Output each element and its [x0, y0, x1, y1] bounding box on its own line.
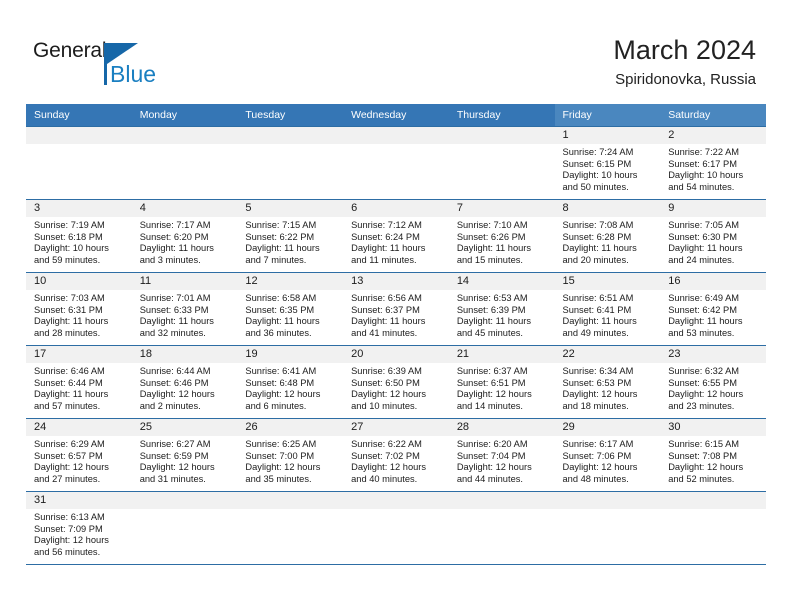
day-detail-line: Sunrise: 6:15 AM	[668, 439, 761, 451]
day-detail-line: Sunset: 7:08 PM	[668, 451, 761, 463]
day-cell[interactable]: 15Sunrise: 6:51 AMSunset: 6:41 PMDayligh…	[555, 273, 661, 345]
day-detail-line: Sunrise: 7:19 AM	[34, 220, 127, 232]
day-detail-line: Sunrise: 7:10 AM	[457, 220, 550, 232]
day-detail-line: and 35 minutes.	[245, 474, 338, 486]
day-details: Sunrise: 6:25 AMSunset: 7:00 PMDaylight:…	[237, 436, 343, 485]
day-details: Sunrise: 6:32 AMSunset: 6:55 PMDaylight:…	[660, 363, 766, 412]
day-cell[interactable]: 13Sunrise: 6:56 AMSunset: 6:37 PMDayligh…	[343, 273, 449, 345]
day-cell[interactable]: 26Sunrise: 6:25 AMSunset: 7:00 PMDayligh…	[237, 419, 343, 491]
day-number: 10	[26, 273, 132, 290]
title-block: March 2024 Spiridonovka, Russia	[613, 34, 756, 90]
day-cell[interactable]: 18Sunrise: 6:44 AMSunset: 6:46 PMDayligh…	[132, 346, 238, 418]
day-cell[interactable]: 17Sunrise: 6:46 AMSunset: 6:44 PMDayligh…	[26, 346, 132, 418]
day-detail-line: Daylight: 10 hours	[668, 170, 761, 182]
day-detail-line: Sunrise: 6:44 AM	[140, 366, 233, 378]
day-detail-line: Sunset: 6:46 PM	[140, 378, 233, 390]
day-detail-line: Sunset: 6:24 PM	[351, 232, 444, 244]
day-cell[interactable]: 2Sunrise: 7:22 AMSunset: 6:17 PMDaylight…	[660, 127, 766, 199]
day-detail-line: Sunrise: 6:51 AM	[563, 293, 656, 305]
day-detail-line: and 52 minutes.	[668, 474, 761, 486]
weekday-header-saturday: Saturday	[660, 104, 766, 127]
day-detail-line: Sunset: 6:20 PM	[140, 232, 233, 244]
day-detail-line: Sunset: 6:55 PM	[668, 378, 761, 390]
day-number: 31	[26, 492, 132, 509]
general-blue-logo[interactable]: General Blue	[33, 39, 173, 91]
day-detail-line: Daylight: 11 hours	[34, 389, 127, 401]
calendar-grid: SundayMondayTuesdayWednesdayThursdayFrid…	[26, 104, 766, 565]
day-number: 11	[132, 273, 238, 290]
day-detail-line: and 2 minutes.	[140, 401, 233, 413]
day-number	[343, 492, 449, 509]
day-detail-line: and 27 minutes.	[34, 474, 127, 486]
day-detail-line: Daylight: 12 hours	[245, 462, 338, 474]
day-number: 16	[660, 273, 766, 290]
day-details: Sunrise: 7:22 AMSunset: 6:17 PMDaylight:…	[660, 144, 766, 193]
day-cell-empty	[449, 127, 555, 199]
day-details: Sunrise: 6:20 AMSunset: 7:04 PMDaylight:…	[449, 436, 555, 485]
day-detail-line: Daylight: 11 hours	[34, 316, 127, 328]
day-number	[132, 492, 238, 509]
day-cell[interactable]: 6Sunrise: 7:12 AMSunset: 6:24 PMDaylight…	[343, 200, 449, 272]
day-detail-line: and 50 minutes.	[563, 182, 656, 194]
day-details: Sunrise: 6:46 AMSunset: 6:44 PMDaylight:…	[26, 363, 132, 412]
day-cell[interactable]: 30Sunrise: 6:15 AMSunset: 7:08 PMDayligh…	[660, 419, 766, 491]
weekday-header-row: SundayMondayTuesdayWednesdayThursdayFrid…	[26, 104, 766, 127]
page-header: General Blue March 2024 Spiridonovka, Ru…	[0, 0, 792, 100]
day-detail-line: Sunrise: 6:46 AM	[34, 366, 127, 378]
day-detail-line: Daylight: 12 hours	[351, 389, 444, 401]
day-detail-line: Sunrise: 6:29 AM	[34, 439, 127, 451]
day-detail-line: Sunset: 7:02 PM	[351, 451, 444, 463]
day-number: 5	[237, 200, 343, 217]
day-detail-line: Sunset: 6:44 PM	[34, 378, 127, 390]
day-detail-line: Daylight: 12 hours	[563, 389, 656, 401]
day-details: Sunrise: 6:41 AMSunset: 6:48 PMDaylight:…	[237, 363, 343, 412]
day-detail-line: Sunrise: 6:17 AM	[563, 439, 656, 451]
day-detail-line: Daylight: 12 hours	[457, 462, 550, 474]
day-cell[interactable]: 29Sunrise: 6:17 AMSunset: 7:06 PMDayligh…	[555, 419, 661, 491]
day-detail-line: and 36 minutes.	[245, 328, 338, 340]
day-detail-line: Daylight: 11 hours	[351, 243, 444, 255]
week-row: 3Sunrise: 7:19 AMSunset: 6:18 PMDaylight…	[26, 200, 766, 273]
day-details: Sunrise: 6:13 AMSunset: 7:09 PMDaylight:…	[26, 509, 132, 558]
day-detail-line: and 31 minutes.	[140, 474, 233, 486]
day-cell[interactable]: 24Sunrise: 6:29 AMSunset: 6:57 PMDayligh…	[26, 419, 132, 491]
day-cell-empty	[343, 492, 449, 564]
day-cell[interactable]: 9Sunrise: 7:05 AMSunset: 6:30 PMDaylight…	[660, 200, 766, 272]
day-detail-line: Daylight: 12 hours	[245, 389, 338, 401]
day-detail-line: Sunrise: 6:41 AM	[245, 366, 338, 378]
day-details: Sunrise: 6:34 AMSunset: 6:53 PMDaylight:…	[555, 363, 661, 412]
day-number: 1	[555, 127, 661, 144]
calendar-body: 1Sunrise: 7:24 AMSunset: 6:15 PMDaylight…	[26, 127, 766, 565]
day-cell[interactable]: 4Sunrise: 7:17 AMSunset: 6:20 PMDaylight…	[132, 200, 238, 272]
day-detail-line: Sunset: 6:37 PM	[351, 305, 444, 317]
day-detail-line: Daylight: 11 hours	[245, 243, 338, 255]
day-details: Sunrise: 6:49 AMSunset: 6:42 PMDaylight:…	[660, 290, 766, 339]
day-detail-line: Sunrise: 6:53 AM	[457, 293, 550, 305]
day-details: Sunrise: 6:37 AMSunset: 6:51 PMDaylight:…	[449, 363, 555, 412]
weekday-header-tuesday: Tuesday	[237, 104, 343, 127]
day-detail-line: and 24 minutes.	[668, 255, 761, 267]
day-detail-line: and 57 minutes.	[34, 401, 127, 413]
logo-text-blue: Blue	[110, 61, 156, 88]
week-row: 17Sunrise: 6:46 AMSunset: 6:44 PMDayligh…	[26, 346, 766, 419]
day-detail-line: Daylight: 12 hours	[563, 462, 656, 474]
day-detail-line: and 7 minutes.	[245, 255, 338, 267]
day-number: 12	[237, 273, 343, 290]
weekday-header-friday: Friday	[555, 104, 661, 127]
day-cell[interactable]: 20Sunrise: 6:39 AMSunset: 6:50 PMDayligh…	[343, 346, 449, 418]
day-details: Sunrise: 7:03 AMSunset: 6:31 PMDaylight:…	[26, 290, 132, 339]
day-detail-line: Daylight: 11 hours	[668, 243, 761, 255]
day-number: 20	[343, 346, 449, 363]
day-number: 6	[343, 200, 449, 217]
day-detail-line: Sunset: 6:31 PM	[34, 305, 127, 317]
day-details: Sunrise: 7:10 AMSunset: 6:26 PMDaylight:…	[449, 217, 555, 266]
day-cell-empty	[237, 127, 343, 199]
day-detail-line: Sunset: 6:53 PM	[563, 378, 656, 390]
day-cell-empty	[237, 492, 343, 564]
day-detail-line: Sunset: 6:30 PM	[668, 232, 761, 244]
week-row: 24Sunrise: 6:29 AMSunset: 6:57 PMDayligh…	[26, 419, 766, 492]
weekday-header-sunday: Sunday	[26, 104, 132, 127]
day-detail-line: Sunrise: 7:12 AM	[351, 220, 444, 232]
page-title: March 2024	[613, 34, 756, 66]
day-number: 14	[449, 273, 555, 290]
day-detail-line: Daylight: 12 hours	[457, 389, 550, 401]
day-detail-line: Sunset: 6:28 PM	[563, 232, 656, 244]
day-detail-line: Sunset: 6:51 PM	[457, 378, 550, 390]
day-cell-empty	[343, 127, 449, 199]
day-details: Sunrise: 6:58 AMSunset: 6:35 PMDaylight:…	[237, 290, 343, 339]
day-number	[237, 492, 343, 509]
day-detail-line: Sunset: 7:04 PM	[457, 451, 550, 463]
day-detail-line: Daylight: 11 hours	[140, 243, 233, 255]
day-details: Sunrise: 7:12 AMSunset: 6:24 PMDaylight:…	[343, 217, 449, 266]
week-row: 10Sunrise: 7:03 AMSunset: 6:31 PMDayligh…	[26, 273, 766, 346]
weekday-header-monday: Monday	[132, 104, 238, 127]
day-detail-line: Daylight: 11 hours	[457, 316, 550, 328]
day-detail-line: Daylight: 12 hours	[668, 462, 761, 474]
day-detail-line: Sunset: 7:09 PM	[34, 524, 127, 536]
day-cell-empty	[449, 492, 555, 564]
day-detail-line: Daylight: 11 hours	[668, 316, 761, 328]
day-detail-line: Sunrise: 6:13 AM	[34, 512, 127, 524]
day-details: Sunrise: 7:19 AMSunset: 6:18 PMDaylight:…	[26, 217, 132, 266]
day-number: 27	[343, 419, 449, 436]
day-number: 4	[132, 200, 238, 217]
day-cell[interactable]: 14Sunrise: 6:53 AMSunset: 6:39 PMDayligh…	[449, 273, 555, 345]
day-cell[interactable]: 23Sunrise: 6:32 AMSunset: 6:55 PMDayligh…	[660, 346, 766, 418]
day-detail-line: Sunset: 6:17 PM	[668, 159, 761, 171]
day-detail-line: Sunset: 6:59 PM	[140, 451, 233, 463]
day-detail-line: and 15 minutes.	[457, 255, 550, 267]
day-detail-line: and 44 minutes.	[457, 474, 550, 486]
day-number: 23	[660, 346, 766, 363]
day-detail-line: Sunrise: 6:37 AM	[457, 366, 550, 378]
day-detail-line: Sunset: 6:15 PM	[563, 159, 656, 171]
day-details: Sunrise: 6:15 AMSunset: 7:08 PMDaylight:…	[660, 436, 766, 485]
day-details: Sunrise: 6:17 AMSunset: 7:06 PMDaylight:…	[555, 436, 661, 485]
day-number: 19	[237, 346, 343, 363]
day-detail-line: Daylight: 11 hours	[457, 243, 550, 255]
day-detail-line: Sunrise: 6:58 AM	[245, 293, 338, 305]
day-detail-line: Sunset: 6:50 PM	[351, 378, 444, 390]
day-detail-line: Sunset: 7:06 PM	[563, 451, 656, 463]
day-cell-empty	[132, 492, 238, 564]
day-detail-line: Sunrise: 7:01 AM	[140, 293, 233, 305]
day-cell[interactable]: 11Sunrise: 7:01 AMSunset: 6:33 PMDayligh…	[132, 273, 238, 345]
day-details: Sunrise: 7:08 AMSunset: 6:28 PMDaylight:…	[555, 217, 661, 266]
day-detail-line: Daylight: 12 hours	[668, 389, 761, 401]
day-detail-line: Sunrise: 6:25 AM	[245, 439, 338, 451]
day-detail-line: and 53 minutes.	[668, 328, 761, 340]
day-cell[interactable]: 1Sunrise: 7:24 AMSunset: 6:15 PMDaylight…	[555, 127, 661, 199]
day-detail-line: Sunset: 6:57 PM	[34, 451, 127, 463]
day-number: 7	[449, 200, 555, 217]
day-detail-line: and 14 minutes.	[457, 401, 550, 413]
day-detail-line: Sunrise: 6:49 AM	[668, 293, 761, 305]
day-detail-line: and 28 minutes.	[34, 328, 127, 340]
day-number: 18	[132, 346, 238, 363]
day-number: 21	[449, 346, 555, 363]
day-detail-line: Sunset: 6:41 PM	[563, 305, 656, 317]
weekday-header-thursday: Thursday	[449, 104, 555, 127]
day-cell[interactable]: 3Sunrise: 7:19 AMSunset: 6:18 PMDaylight…	[26, 200, 132, 272]
day-detail-line: Sunrise: 6:20 AM	[457, 439, 550, 451]
day-detail-line: Daylight: 11 hours	[563, 243, 656, 255]
day-detail-line: and 56 minutes.	[34, 547, 127, 559]
day-detail-line: Sunset: 6:26 PM	[457, 232, 550, 244]
day-details: Sunrise: 7:15 AMSunset: 6:22 PMDaylight:…	[237, 217, 343, 266]
day-number: 30	[660, 419, 766, 436]
day-number: 13	[343, 273, 449, 290]
logo-text-general: General	[33, 39, 106, 63]
day-detail-line: Sunset: 6:48 PM	[245, 378, 338, 390]
day-cell[interactable]: 28Sunrise: 6:20 AMSunset: 7:04 PMDayligh…	[449, 419, 555, 491]
day-cell-empty	[555, 492, 661, 564]
day-cell[interactable]: 7Sunrise: 7:10 AMSunset: 6:26 PMDaylight…	[449, 200, 555, 272]
day-number: 26	[237, 419, 343, 436]
day-cell-empty	[26, 127, 132, 199]
day-detail-line: and 45 minutes.	[457, 328, 550, 340]
day-detail-line: Daylight: 11 hours	[563, 316, 656, 328]
day-number: 2	[660, 127, 766, 144]
day-detail-line: and 32 minutes.	[140, 328, 233, 340]
day-detail-line: Sunrise: 7:17 AM	[140, 220, 233, 232]
day-number	[132, 127, 238, 144]
day-detail-line: Sunrise: 7:22 AM	[668, 147, 761, 159]
day-number: 22	[555, 346, 661, 363]
day-detail-line: Sunrise: 7:15 AM	[245, 220, 338, 232]
day-number: 29	[555, 419, 661, 436]
day-detail-line: Daylight: 12 hours	[351, 462, 444, 474]
day-detail-line: Sunset: 6:42 PM	[668, 305, 761, 317]
day-number: 15	[555, 273, 661, 290]
day-number	[555, 492, 661, 509]
day-detail-line: and 49 minutes.	[563, 328, 656, 340]
day-detail-line: Daylight: 12 hours	[140, 389, 233, 401]
day-number: 9	[660, 200, 766, 217]
day-detail-line: Sunset: 6:18 PM	[34, 232, 127, 244]
day-detail-line: Daylight: 12 hours	[140, 462, 233, 474]
day-detail-line: Daylight: 11 hours	[245, 316, 338, 328]
day-detail-line: and 20 minutes.	[563, 255, 656, 267]
day-detail-line: Sunrise: 6:56 AM	[351, 293, 444, 305]
day-detail-line: Sunrise: 6:32 AM	[668, 366, 761, 378]
day-detail-line: and 6 minutes.	[245, 401, 338, 413]
day-detail-line: Sunset: 7:00 PM	[245, 451, 338, 463]
day-number	[660, 492, 766, 509]
day-cell[interactable]: 5Sunrise: 7:15 AMSunset: 6:22 PMDaylight…	[237, 200, 343, 272]
calendar-page: General Blue March 2024 Spiridonovka, Ru…	[0, 0, 792, 612]
day-details: Sunrise: 6:53 AMSunset: 6:39 PMDaylight:…	[449, 290, 555, 339]
day-number: 17	[26, 346, 132, 363]
day-detail-line: Sunrise: 7:03 AM	[34, 293, 127, 305]
day-details: Sunrise: 7:01 AMSunset: 6:33 PMDaylight:…	[132, 290, 238, 339]
day-detail-line: and 11 minutes.	[351, 255, 444, 267]
day-number	[449, 127, 555, 144]
day-detail-line: Daylight: 11 hours	[351, 316, 444, 328]
day-detail-line: and 23 minutes.	[668, 401, 761, 413]
day-detail-line: Daylight: 12 hours	[34, 462, 127, 474]
day-number	[26, 127, 132, 144]
day-detail-line: Sunset: 6:39 PM	[457, 305, 550, 317]
day-detail-line: Daylight: 12 hours	[34, 535, 127, 547]
day-cell[interactable]: 19Sunrise: 6:41 AMSunset: 6:48 PMDayligh…	[237, 346, 343, 418]
day-number: 24	[26, 419, 132, 436]
day-detail-line: Daylight: 10 hours	[34, 243, 127, 255]
day-detail-line: and 40 minutes.	[351, 474, 444, 486]
day-details: Sunrise: 6:22 AMSunset: 7:02 PMDaylight:…	[343, 436, 449, 485]
day-number	[237, 127, 343, 144]
day-detail-line: and 18 minutes.	[563, 401, 656, 413]
week-row: 1Sunrise: 7:24 AMSunset: 6:15 PMDaylight…	[26, 127, 766, 200]
day-cell[interactable]: 12Sunrise: 6:58 AMSunset: 6:35 PMDayligh…	[237, 273, 343, 345]
day-details: Sunrise: 6:27 AMSunset: 6:59 PMDaylight:…	[132, 436, 238, 485]
day-cell[interactable]: 16Sunrise: 6:49 AMSunset: 6:42 PMDayligh…	[660, 273, 766, 345]
day-details: Sunrise: 6:51 AMSunset: 6:41 PMDaylight:…	[555, 290, 661, 339]
week-row: 31Sunrise: 6:13 AMSunset: 7:09 PMDayligh…	[26, 492, 766, 565]
day-detail-line: Sunrise: 7:05 AM	[668, 220, 761, 232]
page-subtitle: Spiridonovka, Russia	[613, 70, 756, 90]
day-number: 25	[132, 419, 238, 436]
day-detail-line: Sunset: 6:22 PM	[245, 232, 338, 244]
day-details: Sunrise: 7:17 AMSunset: 6:20 PMDaylight:…	[132, 217, 238, 266]
day-number: 8	[555, 200, 661, 217]
day-cell-empty	[660, 492, 766, 564]
day-cell[interactable]: 10Sunrise: 7:03 AMSunset: 6:31 PMDayligh…	[26, 273, 132, 345]
day-detail-line: Sunset: 6:33 PM	[140, 305, 233, 317]
day-detail-line: Daylight: 11 hours	[140, 316, 233, 328]
day-number	[343, 127, 449, 144]
day-cell-empty	[132, 127, 238, 199]
day-detail-line: Sunrise: 6:34 AM	[563, 366, 656, 378]
day-detail-line: Daylight: 10 hours	[563, 170, 656, 182]
day-cell[interactable]: 31Sunrise: 6:13 AMSunset: 7:09 PMDayligh…	[26, 492, 132, 564]
day-detail-line: and 59 minutes.	[34, 255, 127, 267]
day-number: 28	[449, 419, 555, 436]
day-detail-line: and 3 minutes.	[140, 255, 233, 267]
day-cell[interactable]: 25Sunrise: 6:27 AMSunset: 6:59 PMDayligh…	[132, 419, 238, 491]
day-cell[interactable]: 27Sunrise: 6:22 AMSunset: 7:02 PMDayligh…	[343, 419, 449, 491]
weekday-header-wednesday: Wednesday	[343, 104, 449, 127]
day-number: 3	[26, 200, 132, 217]
day-detail-line: Sunrise: 6:22 AM	[351, 439, 444, 451]
day-detail-line: and 54 minutes.	[668, 182, 761, 194]
day-detail-line: Sunrise: 6:39 AM	[351, 366, 444, 378]
day-detail-line: Sunrise: 7:08 AM	[563, 220, 656, 232]
day-detail-line: Sunrise: 7:24 AM	[563, 147, 656, 159]
day-details: Sunrise: 7:05 AMSunset: 6:30 PMDaylight:…	[660, 217, 766, 266]
day-details: Sunrise: 6:39 AMSunset: 6:50 PMDaylight:…	[343, 363, 449, 412]
day-detail-line: Sunset: 6:35 PM	[245, 305, 338, 317]
day-cell[interactable]: 22Sunrise: 6:34 AMSunset: 6:53 PMDayligh…	[555, 346, 661, 418]
day-detail-line: Sunrise: 6:27 AM	[140, 439, 233, 451]
day-number	[449, 492, 555, 509]
day-detail-line: and 10 minutes.	[351, 401, 444, 413]
day-detail-line: and 48 minutes.	[563, 474, 656, 486]
day-details: Sunrise: 6:29 AMSunset: 6:57 PMDaylight:…	[26, 436, 132, 485]
day-details: Sunrise: 7:24 AMSunset: 6:15 PMDaylight:…	[555, 144, 661, 193]
day-detail-line: and 41 minutes.	[351, 328, 444, 340]
day-details: Sunrise: 6:44 AMSunset: 6:46 PMDaylight:…	[132, 363, 238, 412]
day-details: Sunrise: 6:56 AMSunset: 6:37 PMDaylight:…	[343, 290, 449, 339]
day-cell[interactable]: 21Sunrise: 6:37 AMSunset: 6:51 PMDayligh…	[449, 346, 555, 418]
day-cell[interactable]: 8Sunrise: 7:08 AMSunset: 6:28 PMDaylight…	[555, 200, 661, 272]
